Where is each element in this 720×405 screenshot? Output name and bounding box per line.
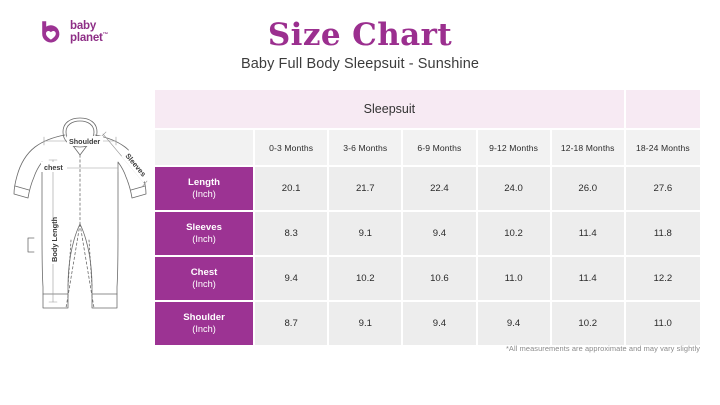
column-header-3-6: 3-6 Months [329,128,403,165]
sleepsuit-diagram: Shoulder chest Sleeves Body Length [8,112,158,347]
column-header-12-18: 12-18 Months [552,128,626,165]
cell-length-18-24: 27.6 [626,165,700,210]
cell-length-9-12: 24.0 [478,165,552,210]
table-band-row: Sleepsuit [155,90,700,128]
cell-sleeves-9-12: 10.2 [478,210,552,255]
page-subtitle: Baby Full Body Sleepsuit - Sunshine [0,56,720,72]
cell-shoulder-6-9: 9.4 [403,300,477,345]
label-sleeves: Sleeves [123,152,148,179]
column-header-9-12: 9-12 Months [478,128,552,165]
table-row: Chest (Inch) 9.4 10.2 10.6 11.0 11.4 12.… [155,255,700,300]
cell-length-12-18: 26.0 [552,165,626,210]
row-label-shoulder: Shoulder (Inch) [155,300,255,345]
measurement-disclaimer: *All measurements are approximate and ma… [506,344,700,353]
cell-shoulder-18-24: 11.0 [626,300,700,345]
row-label-unit: (Inch) [155,189,253,201]
cell-sleeves-3-6: 9.1 [329,210,403,255]
cell-sleeves-12-18: 11.4 [552,210,626,255]
cell-chest-18-24: 12.2 [626,255,700,300]
column-header-18-24: 18-24 Months [626,128,700,165]
page-title: Size Chart [0,17,720,53]
cell-chest-6-9: 10.6 [403,255,477,300]
cell-sleeves-18-24: 11.8 [626,210,700,255]
cell-shoulder-9-12: 9.4 [478,300,552,345]
row-label-length: Length (Inch) [155,165,255,210]
cell-length-0-3: 20.1 [255,165,329,210]
label-shoulder: Shoulder [69,137,100,146]
band-label: Sleepsuit [155,90,626,128]
cell-shoulder-0-3: 8.7 [255,300,329,345]
cell-chest-12-18: 11.4 [552,255,626,300]
table-header-row: 0-3 Months 3-6 Months 6-9 Months 9-12 Mo… [155,128,700,165]
band-end-cell [626,90,700,128]
column-header-0-3: 0-3 Months [255,128,329,165]
cell-shoulder-3-6: 9.1 [329,300,403,345]
table-row: Shoulder (Inch) 8.7 9.1 9.4 9.4 10.2 11.… [155,300,700,345]
row-label-text: Shoulder [183,312,225,323]
size-chart-table: Sleepsuit 0-3 Months 3-6 Months 6-9 Mont… [155,90,700,345]
row-label-sleeves: Sleeves (Inch) [155,210,255,255]
cell-chest-9-12: 11.0 [478,255,552,300]
row-label-text: Sleeves [186,222,222,233]
row-label-unit: (Inch) [155,279,253,291]
cell-chest-3-6: 10.2 [329,255,403,300]
cell-chest-0-3: 9.4 [255,255,329,300]
row-label-text: Length [188,177,220,188]
column-header-6-9: 6-9 Months [403,128,477,165]
cell-length-6-9: 22.4 [403,165,477,210]
label-chest: chest [44,163,63,172]
label-body-length: Body Length [50,216,59,262]
table-row: Length (Inch) 20.1 21.7 22.4 24.0 26.0 2… [155,165,700,210]
cell-length-3-6: 21.7 [329,165,403,210]
row-label-unit: (Inch) [155,324,253,336]
row-label-chest: Chest (Inch) [155,255,255,300]
header-corner [155,128,255,165]
row-label-text: Chest [191,267,218,278]
cell-sleeves-6-9: 9.4 [403,210,477,255]
cell-shoulder-12-18: 10.2 [552,300,626,345]
row-label-unit: (Inch) [155,234,253,246]
table-row: Sleeves (Inch) 8.3 9.1 9.4 10.2 11.4 11.… [155,210,700,255]
cell-sleeves-0-3: 8.3 [255,210,329,255]
